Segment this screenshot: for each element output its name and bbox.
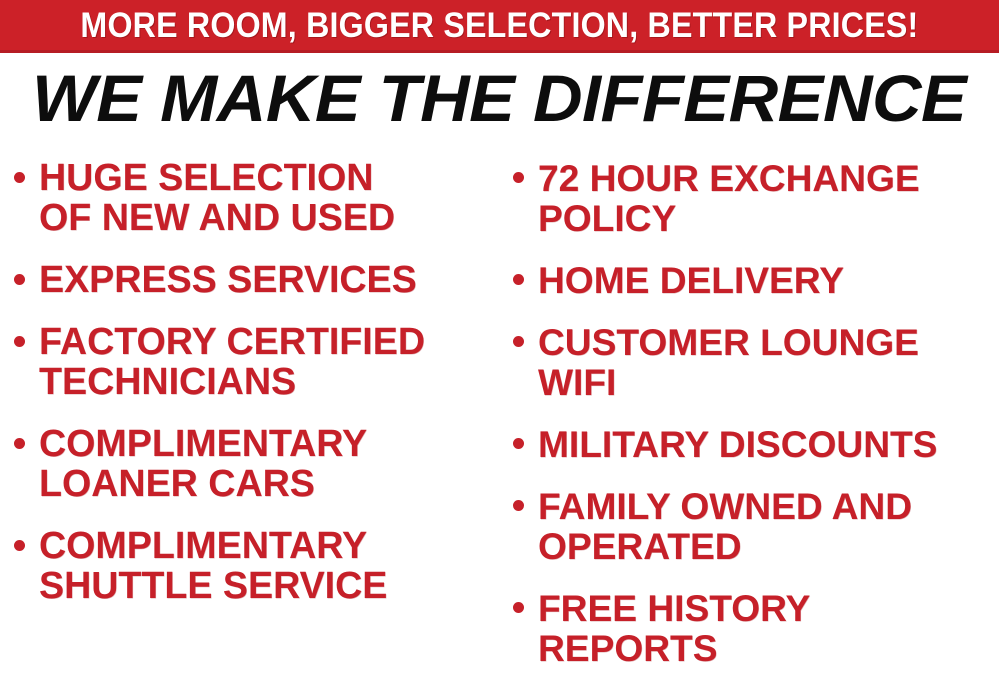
list-item: HOME DELIVERY (513, 260, 999, 300)
list-item: FREE HISTORYREPORTS (513, 588, 999, 668)
bullet-dot-icon (14, 438, 25, 449)
list-item-line1: EXPRESS SERVICES (39, 259, 417, 301)
bullet-dot-icon (14, 172, 25, 183)
list-item: CUSTOMER LOUNGEWIFI (513, 322, 999, 402)
list-item: HUGE SELECTIONOF NEW AND USED (14, 158, 506, 238)
list-item-line1: MILITARY DISCOUNTS (538, 423, 937, 465)
list-item-line1: 72 HOUR EXCHANGE (538, 157, 920, 199)
list-item: FAMILY OWNED ANDOPERATED (513, 486, 999, 566)
bullet-dot-icon (513, 438, 524, 449)
list-item-line2: WIFI (538, 361, 616, 403)
benefits-column-right: 72 HOUR EXCHANGEPOLICY HOME DELIVERY CUS… (513, 158, 999, 692)
list-item: MILITARY DISCOUNTS (513, 424, 999, 464)
list-item-line1: FAMILY OWNED AND (538, 485, 912, 527)
list-item-label: CUSTOMER LOUNGEWIFI (538, 322, 919, 402)
list-item-line1: FACTORY CERTIFIED (39, 321, 425, 363)
bullet-dot-icon (513, 602, 524, 613)
bullet-dot-icon (14, 274, 25, 285)
bullet-dot-icon (513, 274, 524, 285)
list-item-line1: COMPLIMENTARY (39, 423, 367, 465)
list-item-label: COMPLIMENTARYLOANER CARS (39, 424, 367, 504)
list-item-line1: HUGE SELECTION (39, 157, 373, 199)
promo-poster: MORE ROOM, BIGGER SELECTION, BETTER PRIC… (0, 0, 999, 692)
bullet-dot-icon (513, 500, 524, 511)
list-item-label: HOME DELIVERY (538, 260, 844, 300)
list-item: 72 HOUR EXCHANGEPOLICY (513, 158, 999, 238)
list-item-label: FREE HISTORYREPORTS (538, 588, 810, 668)
list-item-line1: FREE HISTORY (538, 587, 810, 629)
list-item-line2: OPERATED (538, 525, 742, 567)
list-item-label: COMPLIMENTARYSHUTTLE SERVICE (39, 526, 387, 606)
list-item-label: EXPRESS SERVICES (39, 260, 417, 300)
bullet-dot-icon (513, 172, 524, 183)
benefits-columns: HUGE SELECTIONOF NEW AND USED EXPRESS SE… (0, 158, 999, 692)
list-item-label: FACTORY CERTIFIEDTECHNICIANS (39, 322, 425, 402)
benefits-column-left: HUGE SELECTIONOF NEW AND USED EXPRESS SE… (14, 158, 506, 692)
list-item-line2: POLICY (538, 197, 676, 239)
main-headline: WE MAKE THE DIFFERENCE (0, 62, 999, 134)
list-item-label: FAMILY OWNED ANDOPERATED (538, 486, 912, 566)
list-item-line2: OF NEW AND USED (39, 197, 395, 239)
list-item: COMPLIMENTARYSHUTTLE SERVICE (14, 526, 506, 606)
main-headline-text: WE MAKE THE DIFFERENCE (32, 62, 966, 134)
bullet-dot-icon (14, 540, 25, 551)
list-item-line1: COMPLIMENTARY (39, 525, 367, 567)
list-item-label: MILITARY DISCOUNTS (538, 424, 937, 464)
list-item-line2: LOANER CARS (39, 463, 315, 505)
list-item-line2: SHUTTLE SERVICE (39, 565, 387, 607)
top-banner: MORE ROOM, BIGGER SELECTION, BETTER PRIC… (0, 0, 999, 53)
list-item: COMPLIMENTARYLOANER CARS (14, 424, 506, 504)
list-item: EXPRESS SERVICES (14, 260, 506, 300)
list-item-label: HUGE SELECTIONOF NEW AND USED (39, 158, 395, 238)
list-item-label: 72 HOUR EXCHANGEPOLICY (538, 158, 920, 238)
bullet-dot-icon (14, 336, 25, 347)
bullet-dot-icon (513, 336, 524, 347)
list-item-line1: HOME DELIVERY (538, 259, 844, 301)
list-item: FACTORY CERTIFIEDTECHNICIANS (14, 322, 506, 402)
list-item-line2: REPORTS (538, 627, 717, 669)
list-item-line1: CUSTOMER LOUNGE (538, 321, 919, 363)
banner-headline-text: MORE ROOM, BIGGER SELECTION, BETTER PRIC… (80, 8, 918, 43)
list-item-line2: TECHNICIANS (39, 361, 296, 403)
